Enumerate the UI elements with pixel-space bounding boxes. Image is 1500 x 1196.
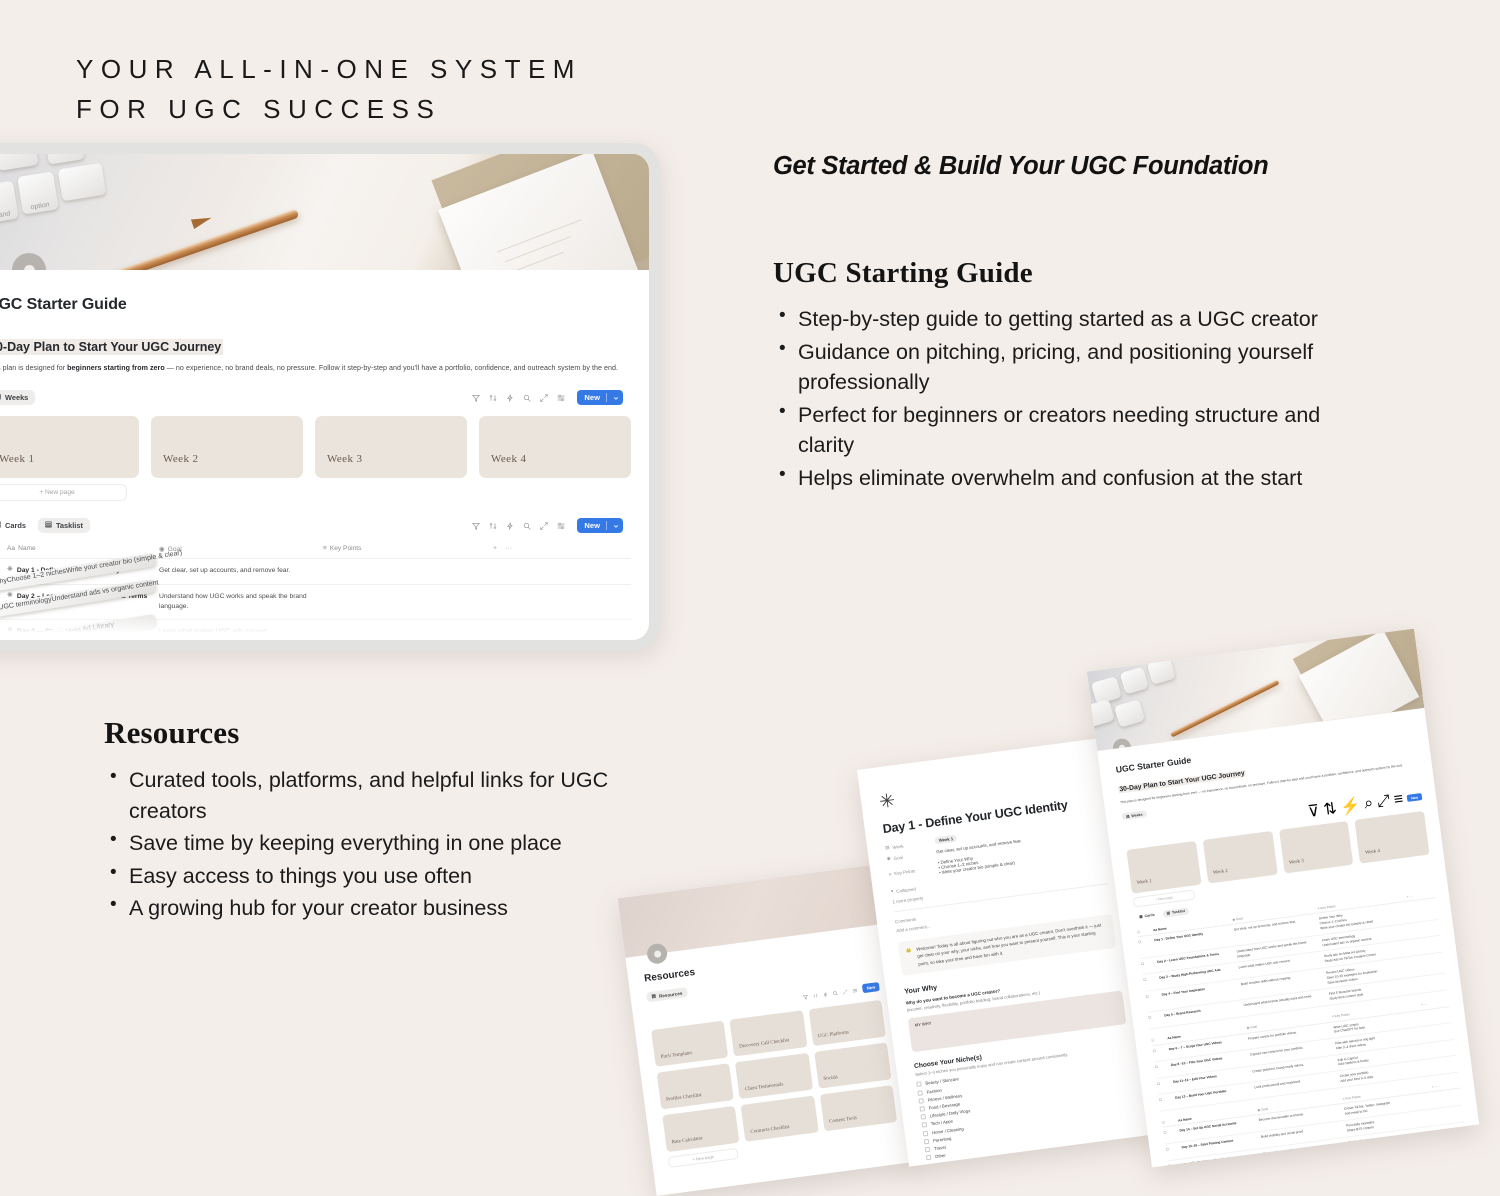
comment-placeholder: Add a comment...: [896, 924, 931, 933]
keyboard-key: [1147, 657, 1176, 685]
select-all-checkbox[interactable]: ☑: [1137, 929, 1149, 935]
week-card-label: Week 4: [491, 453, 526, 465]
content-fade: [0, 614, 649, 640]
week-card[interactable]: Week 1: [0, 416, 139, 478]
search-icon[interactable]: ⌕: [1363, 794, 1374, 813]
checkbox-icon: [918, 1098, 924, 1104]
expand-icon[interactable]: [842, 981, 849, 999]
ugc-starting-guide-block: UGC Starting Guide Step-by-step guide to…: [773, 257, 1353, 493]
keyboard-key: [1087, 699, 1115, 728]
list-item: Easy access to things you use often: [104, 861, 664, 892]
more-options-icon[interactable]: ···: [505, 545, 512, 553]
resource-card[interactable]: Discovery Call Checklist: [730, 1010, 808, 1056]
pen-prop: [79, 209, 299, 270]
sort-icon[interactable]: ⇅: [1322, 798, 1338, 820]
keyboard-key: [43, 154, 84, 165]
database-toolbar: New: [472, 390, 623, 405]
property-key: ◉Goal: [886, 850, 930, 862]
notion-document: UGC Starter Guide 30-Day Plan to Start Y…: [0, 270, 649, 640]
property-value: Week 1: [934, 835, 957, 845]
row-checkbox[interactable]: [0, 566, 7, 576]
filter-icon[interactable]: [472, 522, 480, 530]
document-title: UGC Starter Guide: [0, 296, 631, 314]
automation-icon[interactable]: [822, 984, 829, 1002]
collapsed-hint: 1 more property: [892, 895, 923, 904]
tab-tasklist-label: Tasklist: [56, 521, 83, 530]
resource-card[interactable]: Content Tools: [820, 1085, 898, 1131]
page-properties: ▤Week Week 1 ◉Goal Get clear, set up acc…: [885, 817, 1111, 933]
keyboard-key: command: [0, 181, 19, 226]
week-card[interactable]: Week 4: [1355, 811, 1430, 864]
keyboard-key: [1120, 667, 1149, 695]
new-page-button[interactable]: + New page: [668, 1148, 739, 1168]
expand-icon[interactable]: [540, 394, 548, 402]
collapsed-key: ▾Collapsed: [891, 883, 935, 895]
resource-card[interactable]: Pitch Templates: [651, 1021, 729, 1067]
week-card-label: Week 2: [163, 453, 198, 465]
table-actions[interactable]: +···: [493, 545, 631, 553]
tab-cards[interactable]: ▦Cards: [1135, 911, 1159, 921]
filter-icon[interactable]: ⊽: [1307, 801, 1321, 822]
list-item: Guidance on pitching, pricing, and posit…: [773, 337, 1353, 398]
search-icon[interactable]: [523, 394, 531, 402]
list-item: Curated tools, platforms, and helpful li…: [104, 765, 664, 826]
property-key: ≡Key Points: [888, 861, 934, 882]
new-button[interactable]: New: [577, 518, 623, 533]
tasklist-view-bar: Cards Tasklist New: [0, 518, 631, 533]
resource-card[interactable]: Socials: [814, 1042, 892, 1088]
week-card-label: Week 1: [0, 453, 34, 465]
calendar-icon: [0, 393, 1, 402]
filter-icon[interactable]: [472, 394, 480, 402]
tab-tasklist[interactable]: Tasklist: [38, 518, 90, 533]
table-actions[interactable]: + ···: [1421, 999, 1449, 1007]
week-card[interactable]: Week 1: [1126, 841, 1201, 894]
sort-icon[interactable]: [489, 522, 497, 530]
pen-prop: [1170, 679, 1280, 737]
settings-icon[interactable]: ≡: [1393, 790, 1405, 809]
checkbox-icon: [924, 1139, 930, 1145]
checkbox-icon: [922, 1122, 928, 1128]
cover-photo: command option: [0, 154, 649, 270]
resources-bullets: Curated tools, platforms, and helpful li…: [104, 765, 664, 924]
week-card[interactable]: Week 2: [1202, 831, 1277, 884]
week-card[interactable]: Week 4: [479, 416, 631, 478]
add-column-icon[interactable]: +: [493, 545, 497, 553]
settings-icon[interactable]: [557, 522, 565, 530]
sheet-body: UGC Starter Guide 30-Day Plan to Start Y…: [1097, 708, 1479, 1167]
subsection-title: UGC Starting Guide: [773, 257, 1353, 290]
list-icon: [45, 521, 52, 530]
tasks-table-section: ☑ Aa Name ◉ Goal ≡ Key Points + ··· ☐Day…: [1173, 1164, 1479, 1168]
week-card[interactable]: Week 3: [315, 416, 467, 478]
filter-icon[interactable]: [802, 986, 809, 1004]
tab-weeks[interactable]: Weeks: [0, 390, 35, 405]
ugc-guide-bullets: Step-by-step guide to getting started as…: [773, 304, 1353, 493]
my-why-label: MY WHY: [914, 1021, 931, 1028]
table-row[interactable]: ✳Day 1 - Define Your UGC Identity Get cl…: [0, 559, 631, 584]
list-item: Step-by-step guide to getting started as…: [773, 304, 1353, 335]
select-all-checkbox[interactable]: ☑: [1151, 1037, 1163, 1043]
checkbox-icon: [917, 1090, 923, 1096]
new-button[interactable]: New: [862, 982, 880, 993]
resources-title: Resources: [104, 715, 664, 751]
table-actions[interactable]: + ···: [1432, 1081, 1460, 1089]
guide-sheet-mockup: UGC Starter Guide 30-Day Plan to Start Y…: [1087, 629, 1479, 1168]
tab-cards-label: Cards: [5, 521, 26, 530]
checkbox-icon: [921, 1114, 927, 1120]
new-page-button[interactable]: + New page: [0, 484, 127, 501]
paragraph-post: — no experience, no brand deals, no pres…: [165, 364, 618, 372]
column-header-name[interactable]: AaName: [7, 545, 159, 553]
list-icon: ≡: [889, 871, 892, 876]
gallery-icon: ▦: [1139, 915, 1143, 919]
row-goal: Understand how UGC works and speak the b…: [159, 592, 323, 613]
page-headline: YOUR ALL-IN-ONE SYSTEM FOR UGC SUCCESS: [76, 50, 582, 129]
list-item: A growing hub for your creator business: [104, 893, 664, 924]
tab-tasklist[interactable]: ▤Tasklist: [1162, 907, 1189, 917]
row-goal: Get clear, set up accounts, and remove f…: [159, 566, 323, 576]
checkbox-icon: [923, 1130, 929, 1136]
section-title: Get Started & Build Your UGC Foundation: [773, 152, 1353, 181]
keyboard-key-label: option: [30, 201, 50, 211]
search-icon[interactable]: [523, 522, 531, 530]
tablet-screen: command option UGC Starter Guide 30-Day …: [0, 154, 649, 640]
table-header-row: ☑ Aa Name ◉ Goal ≡ Key Points + ···: [1173, 1164, 1471, 1168]
sort-icon[interactable]: [489, 394, 497, 402]
select-all-checkbox[interactable]: [0, 545, 7, 553]
resource-card[interactable]: Contracts Checklist: [741, 1095, 819, 1141]
column-header-goal[interactable]: ◉Goal: [159, 545, 323, 553]
search-icon[interactable]: [832, 982, 839, 1000]
chevron-down-icon[interactable]: [613, 523, 619, 529]
expand-icon[interactable]: [540, 522, 548, 530]
automation-icon[interactable]: [506, 522, 514, 530]
table-header-row: AaName ◉Goal ≡Key Points +···: [0, 545, 631, 559]
property-key: ▤Week: [885, 839, 929, 851]
resources-text-block: Resources Curated tools, platforms, and …: [104, 715, 664, 926]
weeks-tab[interactable]: ▤ Weeks: [1122, 811, 1147, 821]
table-actions[interactable]: + ···: [1407, 891, 1435, 899]
keyboard-key: option: [17, 171, 59, 214]
list-item: Perfect for beginners or creators needin…: [773, 400, 1353, 461]
checkbox-icon: [919, 1106, 925, 1112]
keyboard-key: [58, 163, 106, 201]
week-card-label: Week 3: [327, 453, 362, 465]
right-column: Get Started & Build Your UGC Foundation …: [773, 152, 1353, 495]
resource-card[interactable]: Profiles Checklist: [657, 1063, 735, 1109]
week-card[interactable]: Week 3: [1279, 821, 1354, 874]
target-icon: ◉: [886, 855, 891, 861]
page-icon-badge: [12, 253, 46, 270]
database-toolbar: New: [472, 518, 623, 533]
resources-tab[interactable]: ▤ Resources: [646, 987, 688, 1002]
document-heading: 30-Day Plan to Start Your UGC Journey: [0, 339, 223, 355]
database-icon: ▤: [885, 844, 890, 850]
automation-icon[interactable]: [506, 394, 514, 402]
database-icon: ▤: [651, 993, 656, 1000]
chevron-down-icon[interactable]: [613, 395, 619, 401]
list-icon: ▤: [1166, 911, 1170, 915]
keyboard-key: [1114, 699, 1145, 727]
resources-sheet-mockup: Resources ▤ Resources New Pitch Template…: [618, 864, 917, 1196]
new-button-label: New: [584, 521, 600, 530]
new-button[interactable]: New: [1407, 793, 1423, 802]
weeks-view-bar: Weeks New: [0, 390, 631, 405]
checkbox-icon: [916, 1082, 922, 1088]
automation-icon[interactable]: ⚡: [1339, 795, 1361, 817]
resource-card-grid: Pitch Templates Discovery Call Checklist…: [651, 1000, 897, 1152]
chevron-down-icon: ▾: [891, 888, 894, 894]
week-card[interactable]: Week 2: [151, 416, 303, 478]
keyboard-key-label: command: [0, 210, 11, 222]
column-header-key-points[interactable]: ≡Key Points: [323, 545, 493, 553]
settings-icon[interactable]: [852, 980, 859, 998]
property-value: • Define Your Why • Choose 1–2 niches • …: [937, 850, 1015, 875]
checkbox-icon: [926, 1155, 932, 1161]
select-all-checkbox[interactable]: ☑: [1162, 1119, 1174, 1125]
tab-weeks-label: Weeks: [5, 393, 28, 402]
callout-text: Welcome! Today is all about figuring out…: [916, 921, 1109, 968]
settings-icon[interactable]: [557, 394, 565, 402]
tablet-mockup: command option UGC Starter Guide 30-Day …: [0, 143, 660, 651]
new-button[interactable]: New: [577, 390, 623, 405]
checkbox-icon: [925, 1147, 931, 1153]
list-item: Helps eliminate overwhelm and confusion …: [773, 463, 1353, 494]
document-paragraph: This plan is designed for beginners star…: [0, 363, 631, 373]
resource-card[interactable]: Client Testimonials: [735, 1053, 813, 1099]
list-item: Save time by keeping everything in one p…: [104, 828, 664, 859]
tasklist-tab-group: Cards Tasklist: [0, 518, 90, 533]
weeks-tab-group: Weeks: [0, 390, 35, 405]
tab-cards[interactable]: Cards: [0, 518, 33, 533]
resource-card[interactable]: UGC Platforms: [808, 1000, 886, 1046]
paragraph-pre: This plan is designed for: [0, 364, 67, 372]
expand-icon[interactable]: ⤢: [1376, 792, 1391, 812]
keyboard-key: [0, 154, 39, 171]
sheet-body: Resources ▤ Resources New Pitch Template…: [625, 924, 913, 1170]
table-actions[interactable]: + ···: [1443, 1164, 1471, 1168]
week-card-row: Week 1 Week 2 Week 3 Week 4: [0, 416, 631, 478]
sort-icon[interactable]: [812, 985, 819, 1003]
gallery-icon: [0, 521, 1, 530]
paragraph-bold: beginners starting from zero: [67, 364, 165, 372]
pen-tip: [191, 213, 213, 229]
new-button-label: New: [584, 393, 600, 402]
resource-card[interactable]: Rate Calculator: [662, 1106, 740, 1152]
calendar-icon: ▤: [1126, 814, 1130, 818]
crown-icon: 👑: [906, 946, 914, 969]
